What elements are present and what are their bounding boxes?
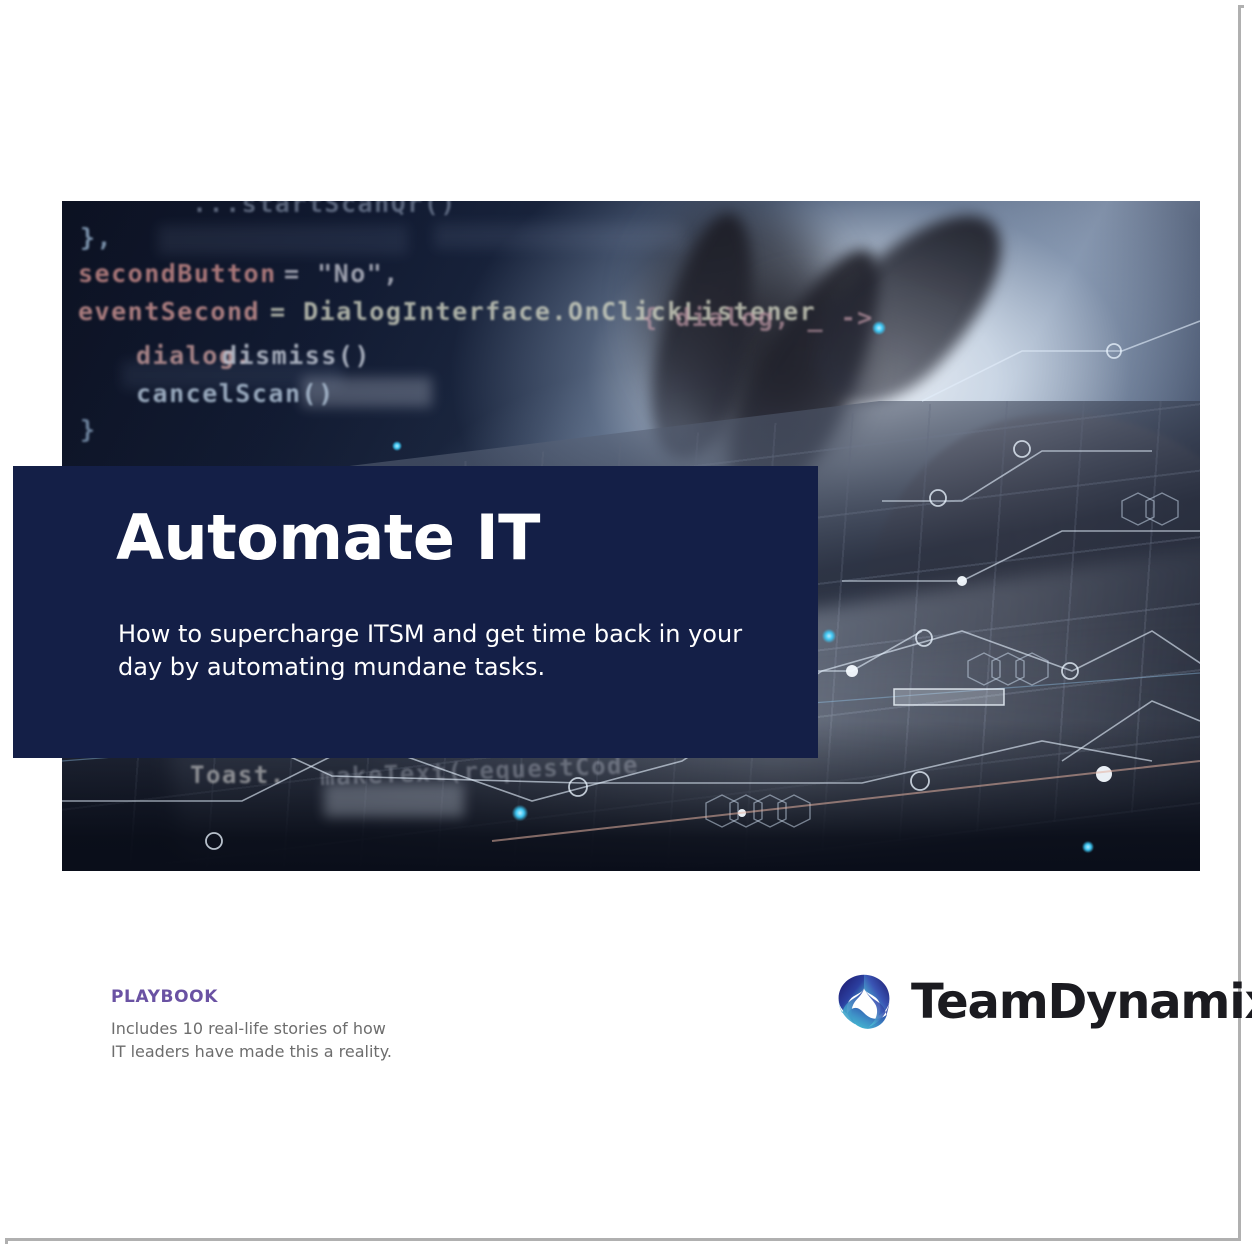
brand-logo-lockup: TeamDynamix: [833, 971, 1252, 1033]
document-page: ...startScanQr() }, secondButton = "No",…: [5, 5, 1241, 1241]
brand-wordmark: TeamDynamix: [911, 978, 1252, 1026]
footer-note: Includes 10 real-life stories of how IT …: [111, 1018, 392, 1063]
cover-footer: PLAYBOOK Includes 10 real-life stories o…: [5, 5, 1238, 1238]
cover-page-screenshot: ...startScanQr() }, secondButton = "No",…: [0, 0, 1252, 1252]
category-label: PLAYBOOK: [111, 987, 218, 1007]
teamdynamix-trefoil-logo-icon: [833, 971, 895, 1033]
